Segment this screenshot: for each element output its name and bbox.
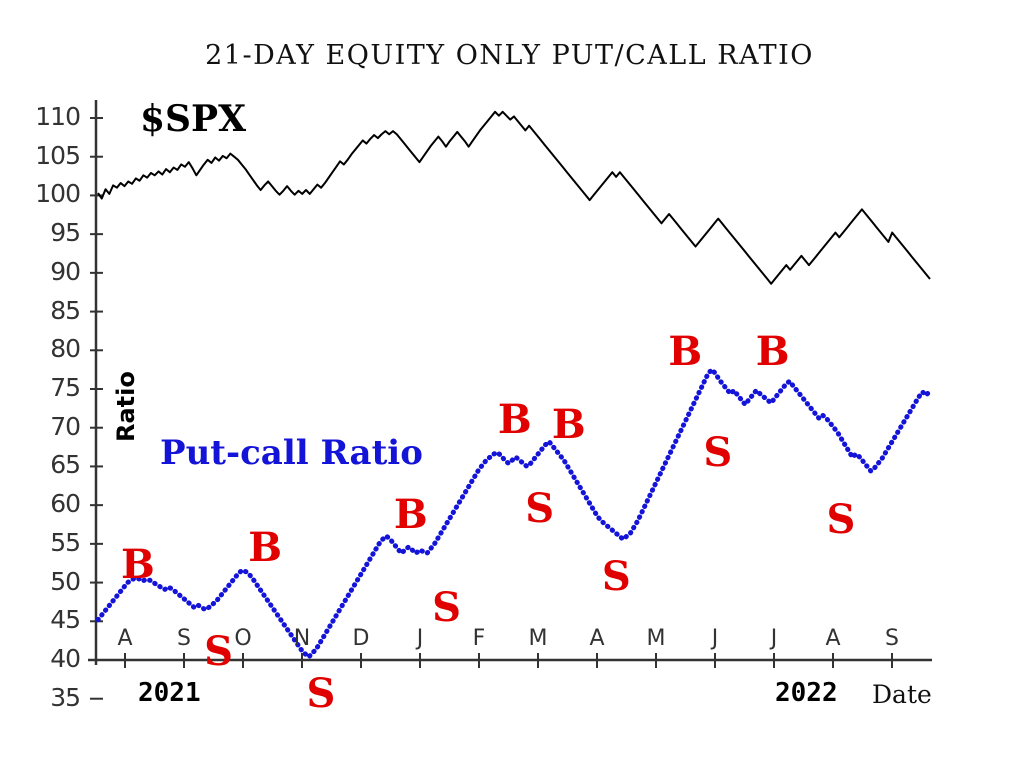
x-tick-label: S <box>877 626 907 651</box>
x-tick-label: F <box>464 626 494 651</box>
x-tick-label: A <box>110 626 140 651</box>
x-tick-label: J <box>759 626 789 651</box>
buy-marker: B <box>668 332 702 372</box>
series-line-spx <box>98 112 930 284</box>
buy-marker: B <box>552 405 586 445</box>
y-tick-label: 80 <box>22 334 80 363</box>
y-tick-label: 95 <box>22 218 80 247</box>
sell-marker: S <box>525 489 554 529</box>
y-tick-label: 40 <box>22 644 80 673</box>
y-tick-label: 60 <box>22 489 80 518</box>
sell-marker: S <box>602 557 631 597</box>
y-tick-label: 35 <box>22 683 80 712</box>
y-tick-label: 50 <box>22 567 80 596</box>
y-tick-label: 100 <box>22 179 80 208</box>
sell-marker: S <box>204 632 233 672</box>
x-tick-label: M <box>641 626 671 651</box>
y-tick-label: 85 <box>22 296 80 325</box>
x-tick-label: J <box>405 626 435 651</box>
data-series-layer <box>98 112 930 657</box>
y-tick-label: 75 <box>22 373 80 402</box>
sell-marker: S <box>703 433 732 473</box>
buy-marker: B <box>498 400 532 440</box>
y-tick-label: 65 <box>22 450 80 479</box>
buy-marker: B <box>756 332 790 372</box>
plot-area <box>0 0 1019 765</box>
y-tick-label: 105 <box>22 141 80 170</box>
y-tick-label: 90 <box>22 257 80 286</box>
axes <box>88 100 932 665</box>
sell-marker: S <box>432 588 461 628</box>
x-tick-label: D <box>346 626 376 651</box>
y-tick-label: 110 <box>22 102 80 131</box>
buy-marker: B <box>121 545 155 585</box>
x-tick-label: A <box>818 626 848 651</box>
buy-marker: B <box>248 528 282 568</box>
x-tick-label: A <box>582 626 612 651</box>
x-tick-label: S <box>169 626 199 651</box>
chart-canvas: 21-DAY EQUITY ONLY PUT/CALL RATIO $SPX P… <box>0 0 1019 765</box>
sell-marker: S <box>306 674 335 714</box>
sell-marker: S <box>826 500 855 540</box>
y-tick-label: 70 <box>22 412 80 441</box>
y-tick-label: 55 <box>22 528 80 557</box>
x-tick-label: J <box>700 626 730 651</box>
buy-marker: B <box>394 495 428 535</box>
x-tick-label: M <box>523 626 553 651</box>
x-tick-label: N <box>287 626 317 651</box>
y-tick-label: 45 <box>22 605 80 634</box>
